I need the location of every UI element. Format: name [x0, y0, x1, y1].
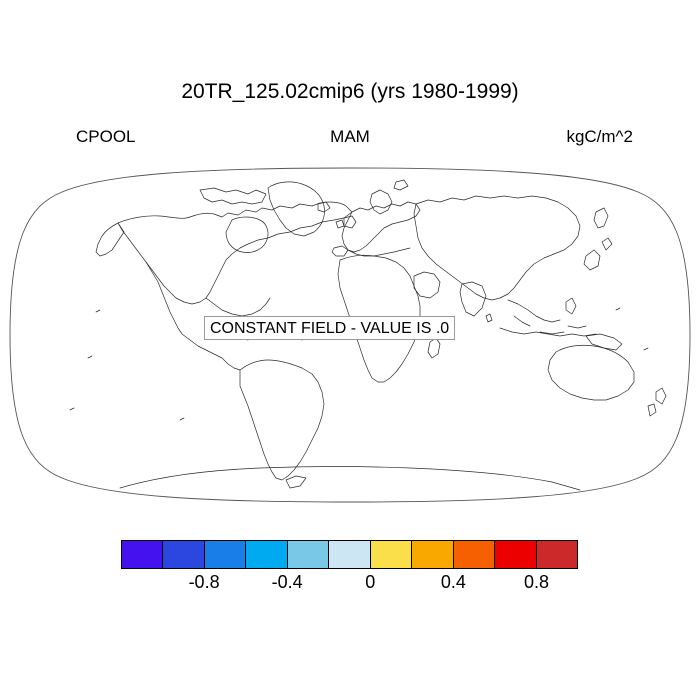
coastline-philippines: [566, 298, 576, 314]
page-title: 20TR_125.02cmip6 (yrs 1980-1999): [0, 80, 700, 104]
colorbar-tick--0.4: -0.4: [272, 572, 303, 593]
coastline-indonesia: [500, 328, 596, 336]
coastline-japan: [584, 238, 612, 270]
coastline-hudson-bay: [226, 217, 268, 253]
coastline-iberia: [332, 246, 348, 256]
coastline-gulf-mexico: [206, 298, 270, 316]
coastline-antarctica: [120, 467, 580, 491]
coastline-sri-lanka: [486, 314, 492, 322]
colorbar-segment-10[interactable]: [537, 541, 577, 568]
coastline-north-america: [118, 202, 352, 304]
colorbar[interactable]: [121, 540, 578, 569]
colorbar-tick--0.8: -0.8: [189, 572, 220, 593]
coastline-scandinavia: [370, 190, 392, 214]
colorbar-tick-labels: -0.8-0.400.40.8: [121, 572, 578, 596]
coastline-canada-arctic: [200, 188, 266, 204]
colorbar-segment-4[interactable]: [288, 541, 329, 568]
colorbar-segments[interactable]: [121, 540, 578, 569]
coastline-australia: [548, 345, 634, 400]
coastline-alaska: [96, 223, 124, 256]
coastline-british-isles: [336, 216, 356, 228]
colorbar-segment-1[interactable]: [163, 541, 204, 568]
colorbar-segment-7[interactable]: [412, 541, 453, 568]
colorbar-segment-2[interactable]: [205, 541, 246, 568]
colorbar-segment-6[interactable]: [371, 541, 412, 568]
colorbar-segment-5[interactable]: [329, 541, 370, 568]
colorbar-segment-8[interactable]: [454, 541, 495, 568]
coastline-new-guinea: [586, 334, 622, 350]
colorbar-tick-0.4: 0.4: [441, 572, 466, 593]
coastline-kamchatka: [594, 208, 608, 228]
colorbar-segment-9[interactable]: [495, 541, 536, 568]
coastline-europe: [342, 202, 420, 252]
coastline-mediterranean: [348, 248, 410, 256]
coastline-antarctic-peninsula: [286, 476, 306, 488]
constant-field-annotation: CONSTANT FIELD - VALUE IS .0: [204, 316, 455, 340]
coastline-madagascar: [428, 338, 440, 358]
coastline-india: [460, 282, 486, 316]
colorbar-tick-0: 0: [365, 572, 375, 593]
coastline-southeast-asia: [508, 300, 586, 334]
coastline-svalbard: [394, 180, 408, 190]
coastline-greenland: [268, 182, 325, 236]
coastline-asia: [414, 196, 580, 300]
coastline-arabia: [414, 272, 440, 298]
colorbar-tick-0.8: 0.8: [524, 572, 549, 593]
coastline-new-zealand: [648, 388, 666, 416]
colorbar-segment-0[interactable]: [122, 541, 163, 568]
figure-canvas: 20TR_125.02cmip6 (yrs 1980-1999) CPOOL M…: [0, 0, 700, 700]
colorbar-segment-3[interactable]: [246, 541, 287, 568]
coastline-south-america: [240, 360, 324, 480]
units-label: kgC/m^2: [566, 127, 633, 147]
